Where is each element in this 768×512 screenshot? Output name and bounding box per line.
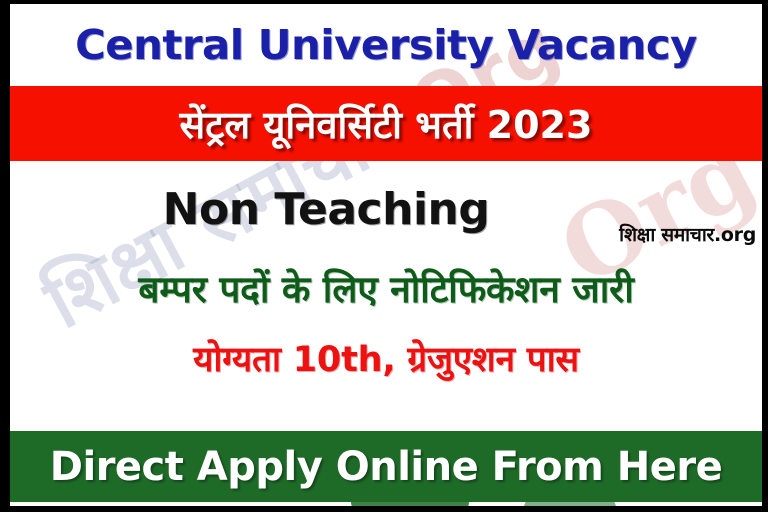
eligibility-line: योग्यता 10th, ग्रेजुएशन पास xyxy=(10,323,762,393)
content-stack: Central University Vacancy सेंट्रल यूनिव… xyxy=(10,4,762,506)
page-title: Central University Vacancy xyxy=(10,4,762,86)
brand-watermark: शिक्षा समाचार.org xyxy=(619,221,756,247)
category-row: Non Teaching शिक्षा समाचार.org xyxy=(10,161,762,251)
spacer xyxy=(10,393,762,431)
category-label: Non Teaching xyxy=(163,184,490,235)
poster-canvas: शिक्षा समाचार.Org Org Central University… xyxy=(10,4,762,506)
poster-frame: शिक्षा समाचार.Org Org Central University… xyxy=(0,0,768,512)
notification-line: बम्पर पदों के लिए नोटिफिकेशन जारी xyxy=(10,251,762,323)
apply-online-button[interactable]: Direct Apply Online From Here xyxy=(10,431,762,502)
hindi-title-band: सेंट्रल यूनिवर्सिटी भर्ती 2023 xyxy=(10,86,762,161)
